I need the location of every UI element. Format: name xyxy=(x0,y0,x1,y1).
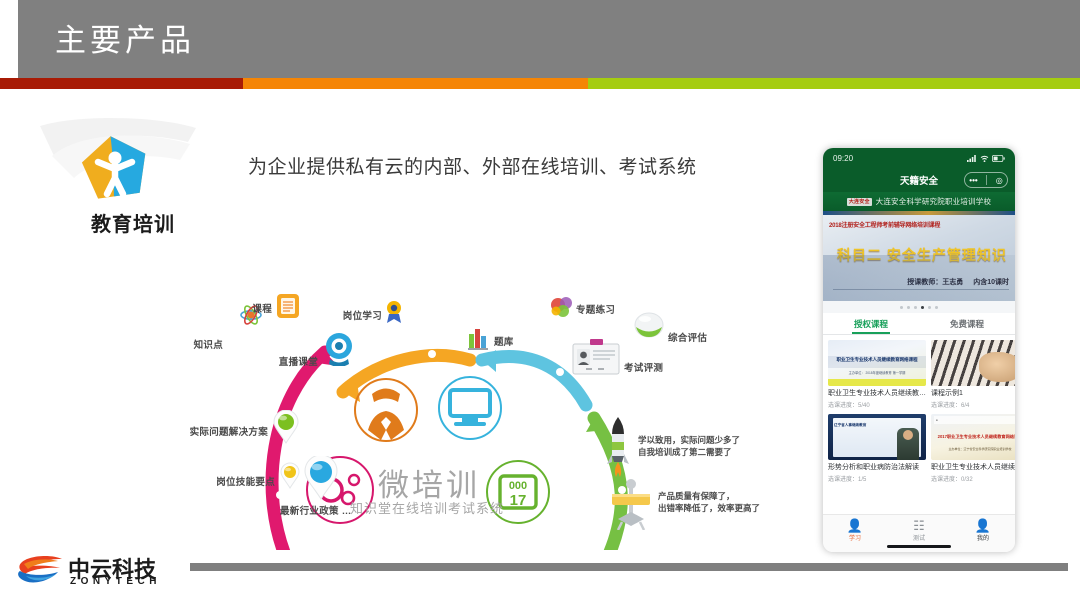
capsule-divider xyxy=(986,175,987,185)
school-name: 大连安全科学研究院职业培训学校 xyxy=(876,196,992,207)
label-pin-solutions: 实际问题解决方案 xyxy=(190,424,268,438)
page-title: 主要产品 xyxy=(55,22,195,60)
status-time: 09:20 xyxy=(833,154,853,163)
home-indicator xyxy=(887,545,951,548)
label-exam-assessment: 考试评测 xyxy=(624,360,663,374)
thumb-header-graphic: ●● xyxy=(934,416,1015,424)
label-live-class: 直播课堂 xyxy=(279,354,318,368)
monitor-ring-icon xyxy=(439,377,501,439)
zonytech-swoosh-icon xyxy=(18,554,64,588)
map-pin-green-icon xyxy=(273,410,299,444)
label-topic-practice: 专题练习 xyxy=(576,302,615,316)
course-card[interactable]: 辽宁省人事继续教育 形势分析和职业病防治法解读 选课进度：1/5 xyxy=(828,414,926,483)
course-title: 形势分析和职业病防治法解读 xyxy=(828,463,926,473)
brand-subtitle: 知识堂在线培训考试系统 xyxy=(350,498,504,517)
tab-authorized-courses[interactable]: 授权课程 xyxy=(823,313,919,334)
hero-small-title: 2018注册安全工程师考前辅导网络培训课程 xyxy=(829,220,940,229)
stripe-green xyxy=(588,78,1080,89)
phone-status-bar: 09:20 xyxy=(823,148,1015,168)
label-pin-policy: 最新行业政策 … xyxy=(280,503,352,517)
svg-text:17: 17 xyxy=(510,492,527,509)
carousel-dot[interactable] xyxy=(907,306,910,309)
battery-icon xyxy=(992,155,1005,162)
course-card[interactable]: 课程示例1 选课进度：6/4 xyxy=(931,340,1015,409)
phone-navbar: 天籍安全 ••• ◎ xyxy=(823,168,1015,192)
idcard-icon xyxy=(572,338,620,376)
thumb-subtitle: 主办单位：辽宁省安全科学研究院职业培训学校 xyxy=(931,447,1015,451)
tab-free-courses[interactable]: 免费课程 xyxy=(919,313,1015,334)
presenter-head-graphic xyxy=(903,430,913,440)
tabbar-item-test[interactable]: ☷ 测试 xyxy=(887,518,951,542)
course-hero-banner[interactable]: 2018注册安全工程师考前辅导网络培训课程 科目二 安全生产管理知识 授课教师：… xyxy=(823,215,1015,301)
callout-rocket: 学以致用，实际问题少多了 自我培训成了第二需要了 xyxy=(638,434,740,458)
course-title: 职业卫生专业技术人员继续教… xyxy=(828,389,926,399)
map-pin-blue-icon xyxy=(304,456,338,500)
hero-title: 科目二 安全生产管理知识 xyxy=(837,245,1007,265)
thumb-title: 职业卫生专业技术人员继续教育网络课程 xyxy=(828,357,926,363)
tabbar-label: 测试 xyxy=(913,536,925,542)
course-progress: 选课进度：6/4 xyxy=(931,400,1015,409)
notebook-icon xyxy=(276,293,300,319)
study-icon: 👤 xyxy=(823,518,887,533)
app-title: 天籍安全 xyxy=(900,173,938,187)
label-position-study: 岗位学习 xyxy=(343,308,382,322)
hero-lessons: 内含10课时 xyxy=(973,277,1009,287)
map-pin-yellow-icon xyxy=(280,462,300,489)
hero-meta: 授课教师：王志勇 内含10课时 xyxy=(907,277,1009,287)
stripe-red xyxy=(0,78,243,89)
footer-bar xyxy=(190,563,1068,571)
tabbar-item-mine[interactable]: 👤 我的 xyxy=(951,518,1015,542)
thumb-title: 辽宁省人事继续教育 xyxy=(834,423,866,428)
thumb-title: 2017职业卫生专业技术人员继续教育网络课程 xyxy=(931,434,1015,440)
label-knowledge-point: 知识点 xyxy=(194,337,223,351)
label-question-bank: 题库 xyxy=(494,334,514,348)
target-icon[interactable]: ◎ xyxy=(996,176,1003,185)
course-progress: 选课进度：0/32 xyxy=(931,474,1015,483)
stripe-orange xyxy=(243,78,588,89)
tabbar-label: 我的 xyxy=(977,536,989,542)
rocket-icon xyxy=(604,416,632,478)
books-icon xyxy=(468,326,490,350)
course-progress: 选课进度：1/5 xyxy=(828,474,926,483)
course-card[interactable]: ●● 2017职业卫生专业技术人员继续教育网络课程 主办单位：辽宁省安全科学研究… xyxy=(931,414,1015,483)
logo-text-en: ZONYTECH xyxy=(70,576,161,587)
sphere-icon xyxy=(634,312,664,338)
course-title: 职业卫生专业技术人员继续教… xyxy=(931,463,1015,473)
course-progress: 选课进度：5/40 xyxy=(828,400,926,409)
company-logo: 中云科技 ZONYTECH xyxy=(18,550,193,594)
wifi-icon xyxy=(980,155,989,162)
thumb-subtitle: 主办单位： 2018年度继续教育 第一学期 xyxy=(828,370,926,375)
hand-graphic xyxy=(979,352,1015,382)
hero-divider xyxy=(833,289,1009,290)
carousel-dots[interactable] xyxy=(823,301,1015,313)
carousel-dot-active[interactable] xyxy=(921,306,924,309)
label-course: 课程 xyxy=(252,301,272,315)
course-thumbnail[interactable]: 辽宁省人事继续教育 xyxy=(828,414,926,460)
school-banner: 大连安全 大连安全科学研究院职业培训学校 xyxy=(823,192,1015,211)
tabbar-label: 学习 xyxy=(849,536,861,542)
product-label: 教育培训 xyxy=(58,208,208,237)
callout-signpost: 产品质量有保障了， 出错率降低了，效率更高了 xyxy=(658,490,760,514)
medal-icon xyxy=(385,300,403,324)
person-icon: 👤 xyxy=(951,518,1015,533)
headline-text: 为企业提供私有云的内部、外部在线培训、考试系统 xyxy=(248,152,697,179)
webcam-icon xyxy=(322,332,356,366)
phone-mockup: 09:20 xyxy=(823,148,1015,552)
carousel-dot[interactable] xyxy=(914,306,917,309)
carousel-dot[interactable] xyxy=(900,306,903,309)
course-thumbnail[interactable]: ●● 2017职业卫生专业技术人员继续教育网络课程 主办单位：辽宁省安全科学研究… xyxy=(931,414,1015,460)
carousel-dot[interactable] xyxy=(928,306,931,309)
mini-program-capsule[interactable]: ••• ◎ xyxy=(964,172,1008,188)
course-thumbnail[interactable]: 职业卫生专业技术人员继续教育网络课程 主办单位： 2018年度继续教育 第一学期 xyxy=(828,340,926,386)
grid-icon: ☷ xyxy=(887,518,951,533)
signal-icon xyxy=(967,155,977,162)
status-icons xyxy=(967,155,1005,162)
bubbles-icon xyxy=(550,296,574,318)
signpost-icon xyxy=(610,478,652,530)
label-overall-evaluation: 综合评估 xyxy=(668,330,707,344)
tabbar-item-study[interactable]: 👤 学习 xyxy=(823,518,887,542)
label-pin-skills: 岗位技能要点 xyxy=(216,474,275,488)
course-tabs: 授权课程 免费课程 xyxy=(823,313,1015,335)
person-tie-ring-icon xyxy=(355,379,417,441)
course-title: 课程示例1 xyxy=(931,389,1015,399)
hero-teacher: 授课教师：王志勇 xyxy=(907,277,963,287)
school-badge: 大连安全 xyxy=(847,198,872,206)
slide: 主要产品 教育培训 为企业提供私有云的内部、外部在线培训、考试系统 xyxy=(0,0,1080,608)
course-thumbnail[interactable] xyxy=(931,340,1015,386)
svg-text:000: 000 xyxy=(509,480,527,492)
education-pentagon-icon xyxy=(80,134,150,202)
course-card[interactable]: 职业卫生专业技术人员继续教育网络课程 主办单位： 2018年度继续教育 第一学期… xyxy=(828,340,926,409)
more-icon[interactable]: ••• xyxy=(969,176,977,185)
training-diagram: 000 17 知识点 课程 岗位学习 xyxy=(110,290,810,550)
carousel-dot[interactable] xyxy=(935,306,938,309)
course-grid: 职业卫生专业技术人员继续教育网络课程 主办单位： 2018年度继续教育 第一学期… xyxy=(823,335,1015,483)
